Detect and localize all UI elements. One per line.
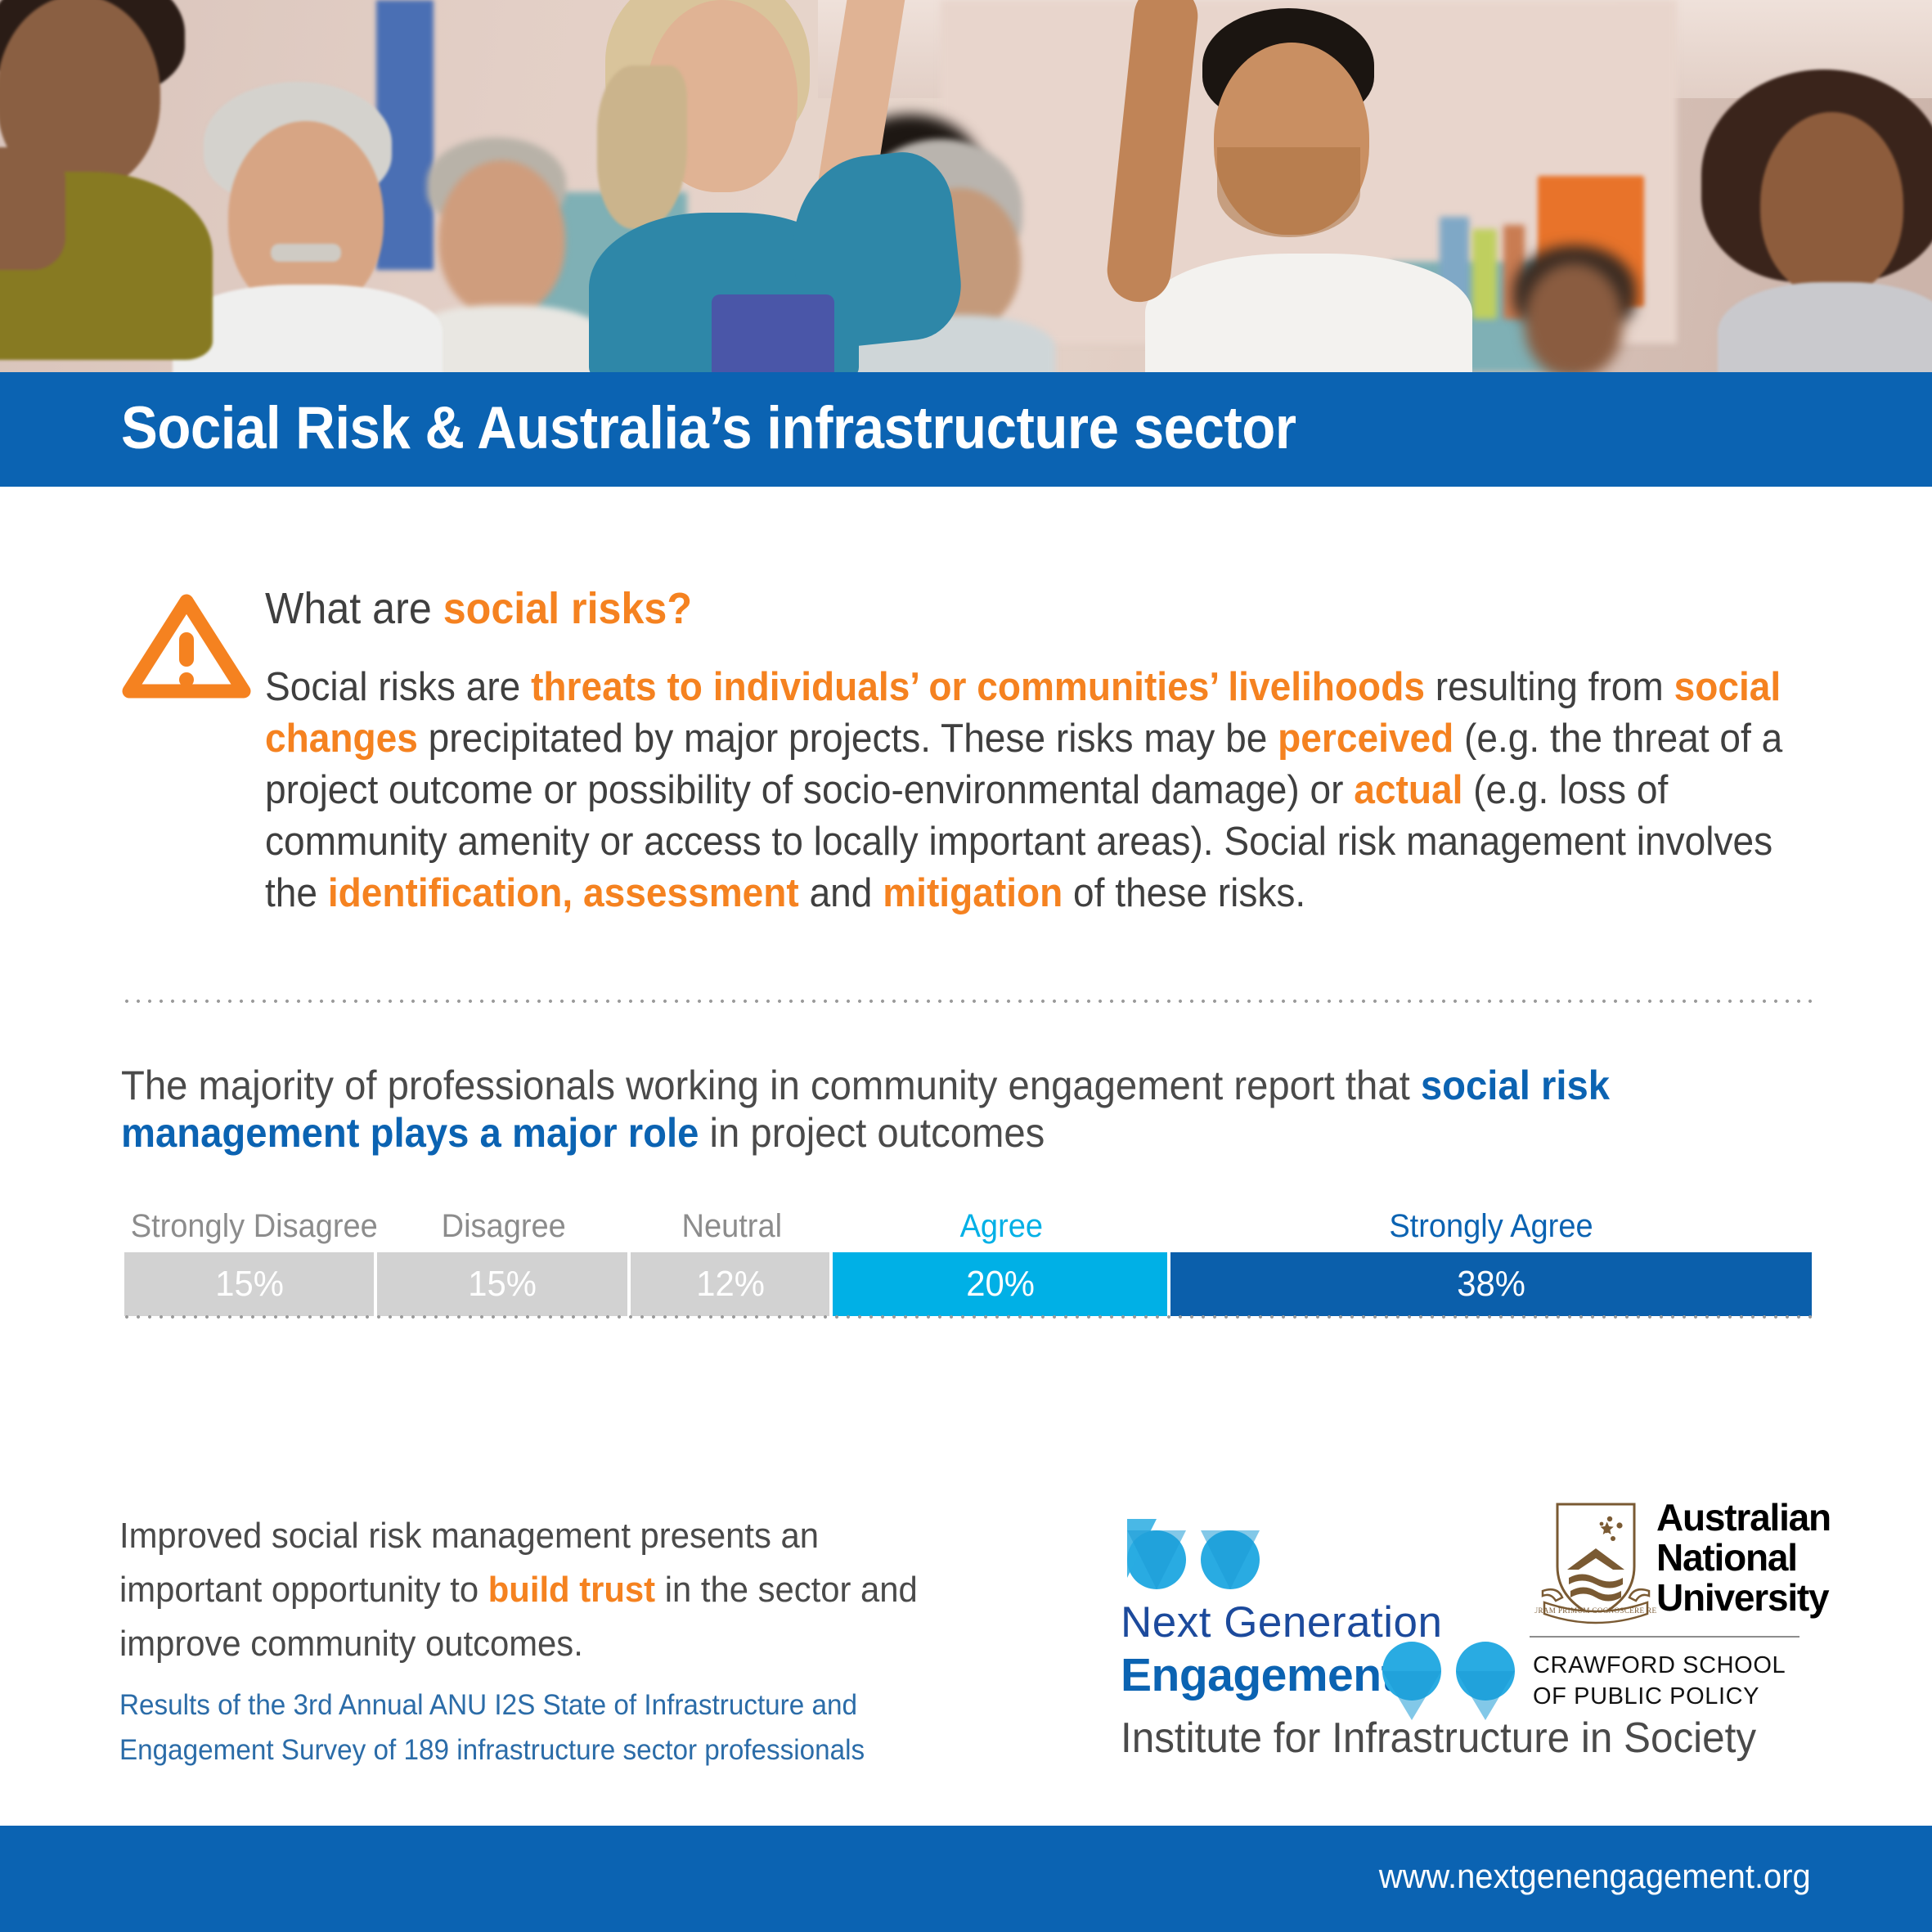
anu-crest-icon: NATURAM PRIMUM COGNOSCERE RERUM [1534,1494,1657,1636]
chart-segment-value: 20% [966,1264,1035,1305]
definition-text-run-5: perceived [1278,717,1453,761]
warning-triangle-icon [121,593,252,699]
svg-text:NATURAM PRIMUM COGNOSCERE RERU: NATURAM PRIMUM COGNOSCERE RERUM [1534,1606,1657,1615]
anu-name-line2: National [1656,1538,1831,1578]
definition-question: What are social risks? [265,583,1710,634]
divider-dotted-top [121,999,1813,1004]
footer-bar: www.nextgenengagement.org [0,1826,1932,1932]
chart-label-strongly-disagree: Strongly Disagree [131,1206,371,1246]
definition-question-plain: What are [265,584,443,633]
definition-text-run-9: identification, assessment [328,871,799,915]
survey-attribution: Results of the 3rd Annual ANU I2S State … [119,1683,959,1772]
audience-member-olive [0,0,213,372]
chart-segment-value: 15% [468,1264,537,1305]
chart-segment-disagree[interactable]: 15% [377,1252,630,1316]
chart-bar-track: 15%15%12%20%38% [124,1252,1812,1316]
anu-name-line3: University [1656,1578,1831,1618]
anu-crawford-logo: NATURAM PRIMUM COGNOSCERE RERUM Australi… [1530,1493,1840,1722]
definition-text-run-10: and [799,871,883,915]
definition-question-highlight: social risks? [443,584,692,633]
nge-line2: Engagement [1121,1648,1396,1702]
chart-label-strongly-agree: Strongly Agree [1187,1206,1796,1246]
next-generation-engagement-logo: Next Generation Engagement [1121,1517,1464,1705]
chart-headline-text-run-2: in project outcomes [699,1110,1045,1156]
chart-headline: The majority of professionals working in… [121,1062,1729,1157]
page-title: Social Risk & Australia’s infrastructure… [121,393,1296,464]
chart-segment-agree[interactable]: 20% [833,1252,1170,1316]
anu-name-line1: Australian [1656,1498,1831,1538]
chart-segment-strongly-agree[interactable]: 38% [1170,1252,1812,1316]
audience-member-right [1710,78,1932,372]
institute-label: Institute for Infrastructure in Society [1121,1714,1756,1763]
definition-text-run-4: precipitated by major projects. These ri… [418,717,1278,761]
audience-member-raising-hand [573,0,1080,372]
definition-paragraph: Social risks are threats to individuals’… [265,662,1803,919]
definition-text-run-0: Social risks are [265,665,531,709]
chart-label-agree: Agree [842,1206,1162,1246]
definition-text-run-11: mitigation [883,871,1063,915]
chart-segment-value: 12% [696,1264,765,1305]
chart-segment-value: 15% [215,1264,284,1305]
chart-headline-text-run-0: The majority of professionals working in… [121,1063,1421,1108]
definition-text-run-12: of these risks. [1063,871,1305,915]
divider-dotted-bottom [121,1314,1813,1319]
chart-label-disagree: Disagree [384,1206,624,1246]
website-url[interactable]: www.nextgenengagement.org [1379,1857,1811,1896]
hero-photo [0,0,1932,372]
definition-text-run-1: threats to individuals’ or communities’ … [531,665,1425,709]
stacked-bar-chart: Strongly DisagreeDisagreeNeutralAgreeStr… [124,1206,1812,1316]
audience-member-back [1497,245,1660,372]
chart-label-neutral: Neutral [636,1206,828,1246]
definition-text-run-2: resulting from [1425,665,1674,709]
closing-statement: Improved social risk management presents… [119,1509,943,1671]
infographic-page: Social Risk & Australia’s infrastructure… [0,0,1932,1932]
closing-text-run-1: build trust [488,1570,655,1610]
chart-segment-neutral[interactable]: 12% [631,1252,833,1316]
chart-segment-strongly-disagree[interactable]: 15% [124,1252,377,1316]
audience-member-white-tee [1170,8,1480,372]
crawford-line1: CRAWFORD SCHOOL [1533,1650,1786,1681]
chart-segment-value: 38% [1457,1264,1525,1305]
crawford-school-label: CRAWFORD SCHOOL OF PUBLIC POLICY [1533,1650,1786,1712]
audience-member-older-man [192,82,429,372]
crawford-line2: OF PUBLIC POLICY [1533,1681,1786,1712]
anu-divider [1530,1636,1799,1638]
definition-text-run-7: actual [1354,768,1462,812]
title-bar: Social Risk & Australia’s infrastructure… [0,372,1932,487]
anu-name: Australian National University [1656,1498,1831,1618]
logo-row: Next Generation Engagement [1121,1493,1840,1820]
double-quote-icon [1121,1517,1268,1595]
chart-category-labels: Strongly DisagreeDisagreeNeutralAgreeStr… [124,1206,1812,1252]
